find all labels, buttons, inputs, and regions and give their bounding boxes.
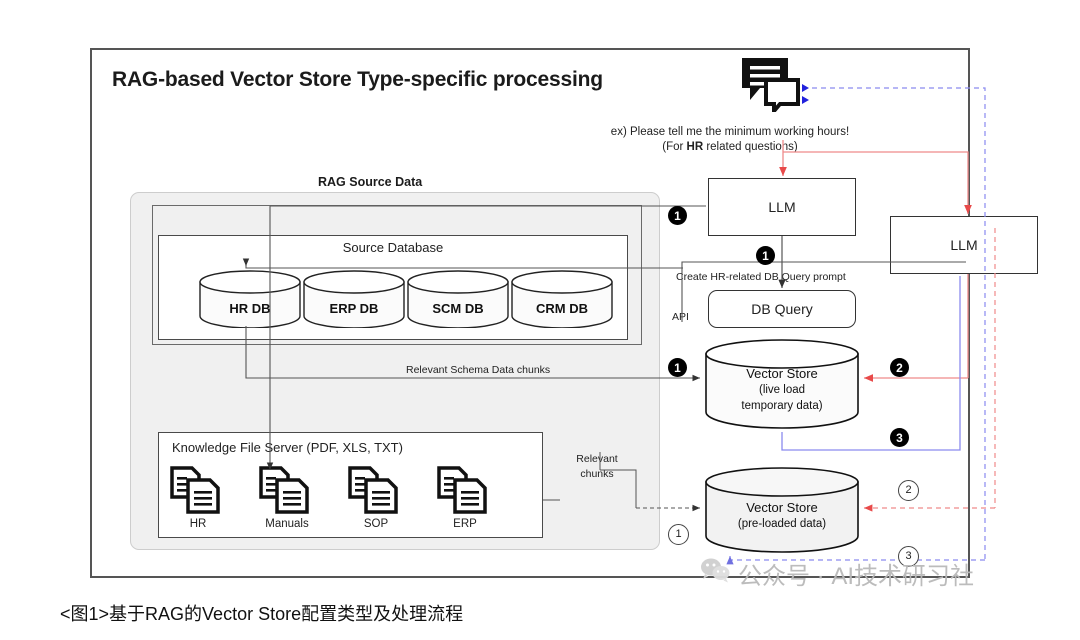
badge-solid-1-prompt: 1 — [756, 246, 775, 265]
badge-solid-1-schema: 1 — [668, 358, 687, 377]
badge-solid-3-live: 3 — [890, 428, 909, 447]
diagram-canvas: RAG-based Vector Store Type-specific pro… — [0, 0, 1080, 640]
watermark: 公众号 · AI技术研习社 — [700, 556, 974, 591]
watermark-text: 公众号 · AI技术研习社 — [738, 556, 974, 591]
figure-caption: <图1>基于RAG的Vector Store配置类型及处理流程 — [60, 600, 463, 626]
wechat-icon — [700, 557, 730, 590]
badge-open-2-preloaded: 2 — [898, 480, 919, 501]
badge-solid-2-live: 2 — [890, 358, 909, 377]
badge-solid-1-llm: 1 — [668, 206, 687, 225]
badge-open-1-preloaded: 1 — [668, 524, 689, 545]
connector-lines — [0, 0, 1080, 640]
